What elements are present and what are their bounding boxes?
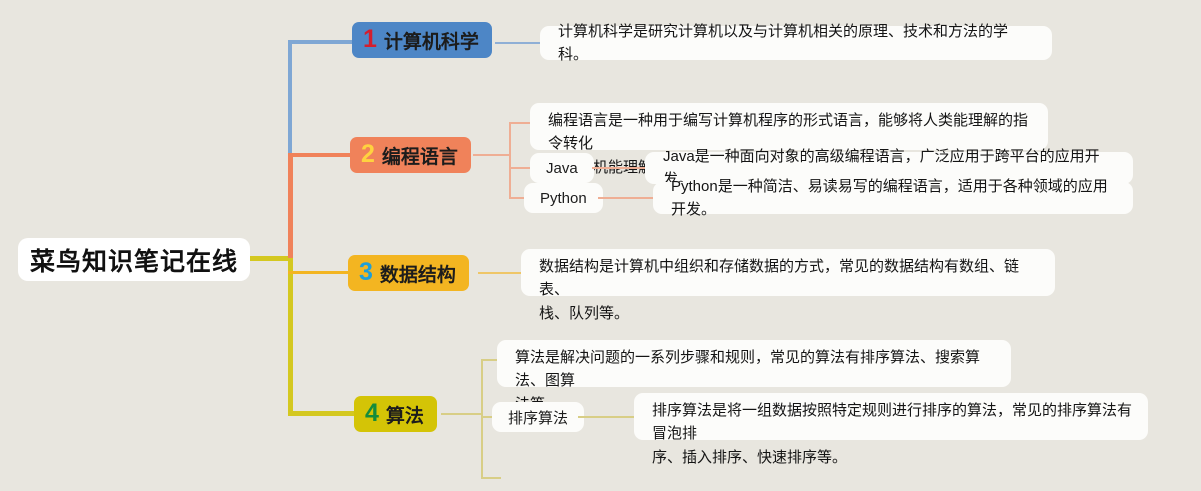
description-computer-science: 计算机科学是研究计算机以及与计算机相关的原理、技术和方法的学科。 xyxy=(540,26,1052,60)
description-algorithm: 算法是解决问题的一系列步骤和规则，常见的算法有排序算法、搜索算法、图算 法等。 xyxy=(497,340,1011,387)
branch-2-child-spine xyxy=(509,123,511,199)
branch-2-connector xyxy=(288,153,350,157)
python-desc-connector xyxy=(598,197,656,199)
branch-4-label: 算法 xyxy=(386,401,424,428)
trunk-line-horizontal xyxy=(250,256,292,261)
description-sorting-algorithm: 排序算法是将一组数据按照特定规则进行排序的算法，常见的排序算法有冒泡排 序、插入… xyxy=(634,393,1148,440)
trunk-line-vertical-lower xyxy=(288,256,293,414)
branch-node-programming-language[interactable]: 2 编程语言 xyxy=(350,137,471,173)
branch-1-desc-connector xyxy=(495,42,541,44)
description-data-structure-line1: 数据结构是计算机中组织和存储数据的方式，常见的数据结构有数组、链表、 xyxy=(539,255,1039,302)
branch-4-child-stem xyxy=(441,413,483,415)
branch-1-connector xyxy=(288,40,352,44)
sorting-desc-connector xyxy=(578,416,636,418)
description-programming-language: 编程语言是一种用于编写计算机程序的形式语言，能够将人类能理解的指令转化 为计算机… xyxy=(530,103,1048,150)
description-python-text: Python是一种简洁、易读易写的编程语言，适用于各种领域的应用开发。 xyxy=(671,175,1117,222)
description-python: Python是一种简洁、易读易写的编程语言，适用于各种领域的应用开发。 xyxy=(653,182,1133,214)
root-node-label: 菜鸟知识笔记在线 xyxy=(30,242,238,278)
sub-node-java-label: Java xyxy=(546,160,578,177)
branch-3-connector xyxy=(288,271,348,274)
branch-2-child-1-line xyxy=(509,122,531,124)
branch-3-number: 3 xyxy=(359,260,373,285)
trunk-line-vertical-blue xyxy=(288,42,292,157)
description-algorithm-line1: 算法是解决问题的一系列步骤和规则，常见的算法有排序算法、搜索算法、图算 xyxy=(515,346,995,393)
trunk-line-vertical-orange xyxy=(288,155,293,258)
branch-node-data-structure[interactable]: 3 数据结构 xyxy=(348,255,469,291)
branch-4-connector xyxy=(288,411,354,416)
branch-2-number: 2 xyxy=(361,142,375,167)
branch-4-child-3-line xyxy=(481,477,501,479)
description-sorting-algorithm-line1: 排序算法是将一组数据按照特定规则进行排序的算法，常见的排序算法有冒泡排 xyxy=(652,399,1132,446)
sub-node-sorting-algorithm-label: 排序算法 xyxy=(508,407,568,428)
description-computer-science-text: 计算机科学是研究计算机以及与计算机相关的原理、技术和方法的学科。 xyxy=(558,20,1036,67)
description-data-structure-line2: 栈、队列等。 xyxy=(539,302,1039,325)
root-node[interactable]: 菜鸟知识笔记在线 xyxy=(18,238,250,281)
mindmap-canvas: 1 计算机科学 计算机科学是研究计算机以及与计算机相关的原理、技术和方法的学科。… xyxy=(0,0,1201,491)
branch-4-number: 4 xyxy=(365,401,379,426)
branch-1-number: 1 xyxy=(363,27,377,52)
sub-node-java[interactable]: Java xyxy=(530,153,594,183)
description-data-structure: 数据结构是计算机中组织和存储数据的方式，常见的数据结构有数组、链表、 栈、队列等… xyxy=(521,249,1055,296)
branch-2-child-2-line xyxy=(509,167,531,169)
branch-3-label: 数据结构 xyxy=(380,260,456,287)
branch-3-desc-connector xyxy=(478,272,523,274)
java-desc-connector xyxy=(592,167,647,169)
sub-node-sorting-algorithm[interactable]: 排序算法 xyxy=(492,402,584,432)
branch-2-child-stem xyxy=(473,154,511,156)
branch-4-child-spine xyxy=(481,360,483,478)
branch-node-algorithm[interactable]: 4 算法 xyxy=(354,396,437,432)
sub-node-python[interactable]: Python xyxy=(524,183,603,213)
branch-node-computer-science[interactable]: 1 计算机科学 xyxy=(352,22,492,58)
description-sorting-algorithm-line2: 序、插入排序、快速排序等。 xyxy=(652,446,1132,469)
branch-2-label: 编程语言 xyxy=(382,142,458,169)
sub-node-python-label: Python xyxy=(540,190,587,207)
branch-1-label: 计算机科学 xyxy=(384,27,479,54)
